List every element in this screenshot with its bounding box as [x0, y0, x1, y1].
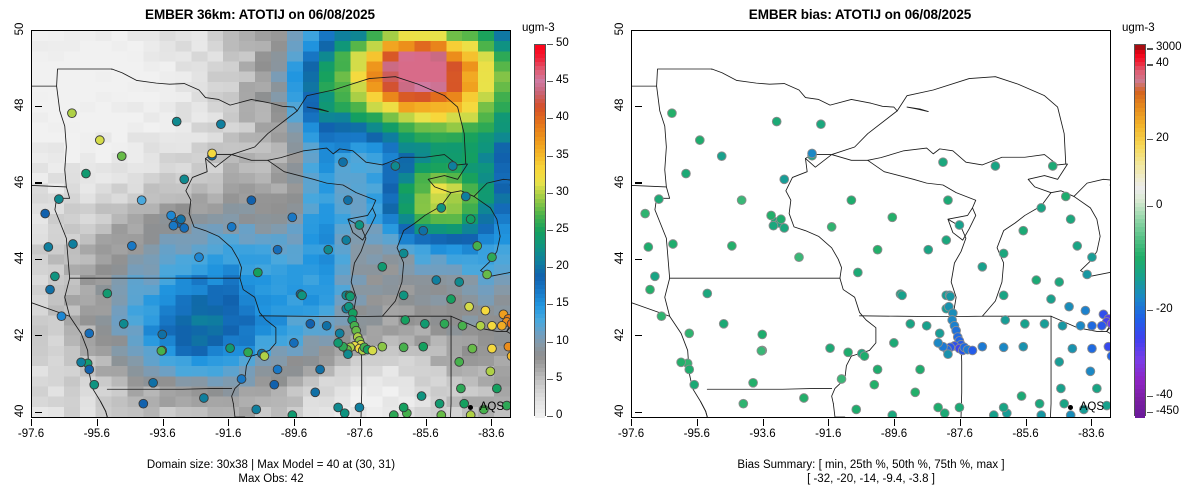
aqs-site-marker[interactable]	[1083, 270, 1092, 279]
aqs-site-marker[interactable]	[298, 291, 307, 300]
aqs-site-marker[interactable]	[117, 152, 126, 161]
y-tick-mark	[635, 412, 642, 413]
aqs-site-marker[interactable]	[157, 346, 166, 355]
aqs-site-marker[interactable]	[139, 399, 148, 408]
colorbar-segment	[535, 62, 545, 67]
x-tick-label: -97.6	[5, 428, 57, 440]
aqs-site-marker[interactable]	[844, 348, 853, 357]
aqs-site-marker[interactable]	[77, 358, 86, 367]
aqs-site-marker[interactable]	[465, 302, 474, 311]
aqs-site-marker[interactable]	[1037, 204, 1046, 213]
aqs-site-marker[interactable]	[978, 262, 987, 271]
colorbar-tick-mark	[547, 118, 553, 119]
aqs-site-marker[interactable]	[447, 295, 456, 304]
aqs-site-marker[interactable]	[226, 344, 235, 353]
colorbar-segment	[535, 99, 545, 104]
aqs-site-marker[interactable]	[1017, 392, 1026, 401]
aqs-site-marker[interactable]	[719, 319, 728, 328]
colorbar-segment	[1135, 268, 1145, 273]
aqs-site-marker[interactable]	[703, 289, 712, 298]
colorbar-segment	[1135, 297, 1145, 302]
aqs-site-marker[interactable]	[942, 236, 951, 245]
colorbar-tick-mark	[547, 230, 553, 231]
aqs-site-marker[interactable]	[55, 195, 64, 204]
aqs-site-marker[interactable]	[1057, 384, 1066, 393]
aqs-site-marker[interactable]	[322, 321, 331, 330]
aqs-site-marker[interactable]	[1107, 352, 1110, 361]
colorbar-segment	[535, 227, 545, 232]
aqs-site-marker[interactable]	[1092, 384, 1101, 393]
y-tick-40: 40	[613, 406, 627, 418]
aqs-site-marker[interactable]	[399, 249, 408, 258]
y-tick-48: 48	[13, 100, 27, 112]
aqs-site-marker[interactable]	[989, 411, 998, 417]
aqs-site-marker[interactable]	[1061, 192, 1070, 201]
colorbar-tick-mark	[547, 44, 553, 45]
aqs-site-marker[interactable]	[1032, 276, 1041, 285]
colorbar-segment	[535, 140, 545, 145]
aqs-site-marker[interactable]	[119, 319, 128, 328]
aqs-site-marker[interactable]	[777, 215, 786, 224]
aqs-site-marker[interactable]	[44, 243, 53, 252]
aqs-site-marker[interactable]	[169, 221, 178, 230]
aqs-site-marker[interactable]	[999, 403, 1008, 412]
aqs-site-marker[interactable]	[799, 394, 808, 403]
aqs-site-marker[interactable]	[172, 117, 181, 126]
colorbar-segment	[1135, 227, 1145, 232]
aqs-site-marker[interactable]	[890, 339, 899, 348]
aqs-site-marker[interactable]	[955, 221, 964, 230]
aqs-site-marker[interactable]	[1035, 399, 1044, 408]
aqs-site-marker[interactable]	[739, 399, 748, 408]
aqs-site-marker[interactable]	[69, 240, 78, 249]
aqs-site-marker[interactable]	[149, 378, 158, 387]
aqs-site-marker[interactable]	[690, 380, 699, 389]
aqs-site-marker[interactable]	[1020, 319, 1029, 328]
x-tick-label: -95.6	[671, 428, 723, 440]
colorbar-segment	[535, 107, 545, 112]
colorbar-segment	[1135, 82, 1145, 87]
aqs-site-marker[interactable]	[717, 152, 726, 161]
aqs-site-marker[interactable]	[208, 149, 217, 158]
aqs-site-marker[interactable]	[344, 196, 353, 205]
colorbar-segment	[535, 82, 545, 87]
aqs-site-marker[interactable]	[655, 195, 664, 204]
aqs-site-marker[interactable]	[288, 411, 297, 417]
aqs-site-marker[interactable]	[492, 384, 501, 393]
aqs-site-marker[interactable]	[334, 339, 343, 348]
panel-model: EMBER 36km: ATOTIJ on 06/08/2025 AQS 404…	[0, 0, 600, 502]
aqs-site-marker[interactable]	[847, 196, 856, 205]
aqs-site-marker[interactable]	[772, 117, 781, 126]
aqs-site-marker[interactable]	[306, 319, 315, 328]
aqs-site-marker[interactable]	[873, 245, 882, 254]
colorbar-segment	[1135, 260, 1145, 265]
colorbar-tick-mark	[547, 193, 553, 194]
x-tick-mark	[697, 419, 698, 426]
aqs-site-marker[interactable]	[999, 249, 1008, 258]
aqs-site-marker[interactable]	[253, 268, 262, 277]
aqs-site-marker[interactable]	[999, 291, 1008, 300]
aqs-site-marker[interactable]	[668, 109, 677, 118]
aqs-site-marker[interactable]	[1076, 321, 1085, 330]
aqs-site-marker[interactable]	[435, 399, 444, 408]
aqs-site-marker[interactable]	[853, 268, 862, 277]
aqs-site-marker[interactable]	[137, 196, 146, 205]
aqs-site-marker[interactable]	[399, 343, 408, 352]
aqs-site-marker[interactable]	[217, 120, 226, 129]
aqs-site-marker[interactable]	[944, 350, 953, 359]
aqs-site-marker[interactable]	[103, 289, 112, 298]
x-tick-mark	[1026, 419, 1027, 426]
aqs-site-marker[interactable]	[41, 209, 50, 218]
aqs-site-marker[interactable]	[468, 344, 477, 353]
colorbar-tick-label: -20	[1156, 303, 1173, 315]
aqs-site-marker[interactable]	[644, 243, 653, 252]
aqs-site-marker[interactable]	[898, 291, 907, 300]
aqs-site-marker[interactable]	[1088, 344, 1097, 353]
aqs-site-marker[interactable]	[195, 253, 204, 262]
colorbar-tick-mark	[1147, 139, 1153, 140]
aqs-site-marker[interactable]	[1088, 321, 1097, 330]
aqs-site-marker[interactable]	[260, 352, 269, 361]
aqs-site-marker[interactable]	[978, 342, 987, 351]
aqs-site-marker[interactable]	[270, 380, 279, 389]
aqs-site-marker[interactable]	[199, 394, 208, 403]
colorbar-segment	[1135, 351, 1145, 356]
colorbar-segment	[535, 190, 545, 195]
aqs-site-marker[interactable]	[339, 158, 348, 167]
aqs-site-marker[interactable]	[167, 211, 176, 220]
colorbar-segment	[1135, 318, 1145, 323]
colorbar-segment	[1135, 132, 1145, 137]
aqs-site-marker[interactable]	[324, 245, 333, 254]
aqs-site-marker[interactable]	[378, 342, 387, 351]
aqs-site-marker[interactable]	[737, 196, 746, 205]
aqs-site-marker[interactable]	[968, 346, 977, 355]
aqs-site-marker[interactable]	[870, 380, 879, 389]
aqs-site-marker[interactable]	[944, 196, 953, 205]
aqs-site-marker[interactable]	[1055, 278, 1064, 287]
aqs-site-marker[interactable]	[1065, 302, 1074, 311]
aqs-site-marker[interactable]	[158, 330, 167, 339]
aqs-site-marker[interactable]	[247, 196, 256, 205]
aqs-site-marker[interactable]	[51, 272, 60, 281]
colorbar-segment	[1135, 330, 1145, 335]
aqs-site-marker[interactable]	[685, 365, 694, 374]
aqs-site-marker[interactable]	[486, 367, 495, 376]
colorbar-tick-mark	[547, 267, 553, 268]
aqs-site-marker[interactable]	[290, 339, 299, 348]
colorbar-segment	[535, 90, 545, 95]
aqs-site-marker[interactable]	[389, 411, 398, 417]
y-tick-mark	[35, 259, 42, 260]
aqs-site-marker[interactable]	[180, 224, 189, 233]
colorbar-segment	[1135, 347, 1145, 352]
aqs-site-marker[interactable]	[455, 278, 464, 287]
aqs-site-marker[interactable]	[826, 344, 835, 353]
colorbar-segment	[535, 57, 545, 62]
aqs-site-marker[interactable]	[769, 221, 778, 230]
aqs-site-marker[interactable]	[1058, 321, 1067, 330]
colorbar-tick-mark	[547, 416, 553, 417]
aqs-site-marker[interactable]	[432, 276, 441, 285]
aqs-site-marker[interactable]	[757, 346, 766, 355]
aqs-marker-icon	[468, 405, 473, 410]
aqs-site-marker[interactable]	[924, 245, 933, 254]
aqs-site-marker[interactable]	[483, 270, 492, 279]
colorbar-segment	[535, 70, 545, 75]
colorbar-segment	[1135, 359, 1145, 364]
aqs-site-marker[interactable]	[180, 175, 189, 184]
aqs-site-marker[interactable]	[399, 291, 408, 300]
aqs-site-marker[interactable]	[227, 223, 236, 232]
aqs-site-marker[interactable]	[237, 375, 246, 384]
colorbar-segment	[535, 314, 545, 319]
aqs-site-marker[interactable]	[440, 319, 449, 328]
aqs-site-marker[interactable]	[1086, 367, 1095, 376]
aqs-site-marker[interactable]	[458, 321, 467, 330]
x-tick-label: -89.6	[268, 428, 320, 440]
aqs-site-marker[interactable]	[940, 409, 949, 417]
y-tick-50: 50	[13, 24, 27, 36]
colorbar-segment	[1135, 161, 1145, 166]
colorbar-tick-mark	[1147, 48, 1153, 49]
colorbar-segment	[535, 363, 545, 368]
x-tick-mark	[894, 419, 895, 426]
aqs-site-marker[interactable]	[448, 162, 457, 171]
colorbar-tick-label: -40	[1156, 389, 1173, 401]
aqs-site-marker[interactable]	[695, 136, 704, 145]
aqs-site-marker[interactable]	[244, 348, 253, 357]
colorbar-tick-label: 20	[556, 260, 569, 272]
aqs-site-marker[interactable]	[685, 329, 694, 338]
aqs-site-marker[interactable]	[437, 411, 446, 417]
aqs-site-marker[interactable]	[827, 223, 836, 232]
aqs-site-marker[interactable]	[95, 136, 104, 145]
aqs-site-marker[interactable]	[780, 175, 789, 184]
colorbar-segment	[535, 119, 545, 124]
aqs-site-marker[interactable]	[311, 388, 320, 397]
aqs-site-marker[interactable]	[437, 204, 446, 213]
colorbar-segment	[535, 194, 545, 199]
colorbar-segment	[1135, 248, 1145, 253]
aqs-site-marker[interactable]	[461, 192, 470, 201]
aqs-site-marker[interactable]	[946, 292, 955, 301]
aqs-site-marker[interactable]	[476, 321, 485, 330]
aqs-site-marker[interactable]	[669, 240, 678, 249]
colorbar-segment	[535, 223, 545, 228]
aqs-site-marker[interactable]	[1047, 295, 1056, 304]
aqs-site-marker[interactable]	[646, 285, 655, 294]
x-tick-label: -83.6	[1065, 428, 1117, 440]
aqs-site-marker[interactable]	[1040, 319, 1049, 328]
aqs-site-marker[interactable]	[682, 169, 691, 178]
colorbar-segment	[535, 396, 545, 401]
colorbar-segment	[535, 148, 545, 153]
aqs-site-marker[interactable]	[1001, 316, 1010, 325]
aqs-site-marker[interactable]	[273, 245, 282, 254]
aqs-site-marker[interactable]	[888, 411, 897, 417]
aqs-site-marker[interactable]	[758, 330, 767, 339]
colorbar-segment	[535, 301, 545, 306]
colorbar-segment	[535, 326, 545, 331]
aqs-site-marker[interactable]	[939, 158, 948, 167]
colorbar-segment	[535, 252, 545, 257]
x-tick-label: -97.6	[605, 428, 657, 440]
y-tick-48: 48	[613, 100, 627, 112]
aqs-site-marker[interactable]	[252, 405, 261, 414]
colorbar-segment	[1135, 194, 1145, 199]
colorbar-segment	[535, 388, 545, 393]
aqs-site-marker[interactable]	[934, 339, 943, 348]
colorbar-segment	[1135, 115, 1145, 120]
aqs-observation-markers-left[interactable]	[32, 31, 510, 417]
aqs-site-marker[interactable]	[481, 306, 490, 315]
aqs-site-marker[interactable]	[457, 384, 466, 393]
aqs-site-marker[interactable]	[488, 344, 497, 353]
aqs-site-marker[interactable]	[1081, 306, 1090, 315]
aqs-site-marker[interactable]	[641, 209, 650, 218]
colorbar-segment	[1135, 396, 1145, 401]
aqs-site-marker[interactable]	[1048, 162, 1057, 171]
panel-model-title: EMBER 36km: ATOTIJ on 06/08/2025	[0, 7, 520, 22]
colorbar-segment	[535, 115, 545, 120]
aqs-site-marker[interactable]	[1037, 411, 1046, 417]
aqs-site-marker[interactable]	[852, 405, 861, 414]
aqs-site-marker[interactable]	[46, 285, 55, 294]
aqs-site-marker[interactable]	[344, 350, 353, 359]
aqs-site-marker[interactable]	[417, 392, 426, 401]
aqs-site-marker[interactable]	[1073, 242, 1082, 251]
aqs-site-marker[interactable]	[419, 342, 428, 351]
aqs-site-marker[interactable]	[466, 215, 475, 224]
aqs-site-marker[interactable]	[767, 211, 776, 220]
aqs-site-marker[interactable]	[677, 358, 686, 367]
colorbar-segment	[535, 78, 545, 83]
x-tick-label: -91.6	[802, 428, 854, 440]
aqs-site-marker[interactable]	[860, 352, 869, 361]
colorbar-segment	[1135, 53, 1145, 58]
aqs-site-marker[interactable]	[749, 378, 758, 387]
aqs-site-marker[interactable]	[1055, 358, 1064, 367]
aqs-site-marker[interactable]	[916, 365, 925, 374]
aqs-site-marker[interactable]	[651, 272, 660, 281]
aqs-site-marker[interactable]	[85, 329, 94, 338]
aqs-site-marker[interactable]	[455, 358, 464, 367]
colorbar-segment	[535, 305, 545, 310]
aqs-site-marker[interactable]	[1019, 226, 1028, 235]
aqs-site-marker[interactable]	[177, 215, 186, 224]
aqs-site-marker[interactable]	[340, 409, 349, 417]
aqs-site-marker[interactable]	[342, 236, 351, 245]
aqs-site-marker[interactable]	[401, 316, 410, 325]
aqs-site-marker[interactable]	[911, 388, 920, 397]
aqs-site-marker[interactable]	[82, 169, 91, 178]
aqs-site-marker[interactable]	[837, 375, 846, 384]
aqs-site-marker[interactable]	[316, 365, 325, 374]
colorbar-segment	[535, 413, 545, 418]
aqs-site-marker[interactable]	[808, 149, 817, 158]
aqs-site-marker[interactable]	[817, 120, 826, 129]
colorbar-segment	[535, 338, 545, 343]
colorbar-segment	[535, 400, 545, 405]
colorbar-segment	[535, 310, 545, 315]
aqs-bias-markers-right[interactable]	[632, 31, 1110, 417]
colorbar-segment	[535, 285, 545, 290]
colorbar-segment	[1135, 144, 1145, 149]
model-caption-line2: Max Obs: 42	[0, 472, 542, 486]
aqs-site-marker[interactable]	[1066, 215, 1075, 224]
aqs-site-marker[interactable]	[1088, 253, 1097, 262]
aqs-site-marker[interactable]	[273, 365, 282, 374]
aqs-site-marker[interactable]	[391, 162, 400, 171]
aqs-site-marker[interactable]	[473, 242, 482, 251]
aqs-site-marker[interactable]	[504, 342, 510, 351]
aqs-site-marker[interactable]	[873, 365, 882, 374]
aqs-site-marker[interactable]	[507, 352, 510, 361]
aqs-legend-label: AQS	[480, 401, 504, 413]
aqs-site-marker[interactable]	[955, 403, 964, 412]
aqs-site-marker[interactable]	[728, 242, 737, 251]
aqs-site-marker[interactable]	[368, 346, 377, 355]
aqs-site-marker[interactable]	[128, 242, 137, 251]
colorbar-segment	[535, 161, 545, 166]
aqs-site-marker[interactable]	[795, 253, 804, 262]
aqs-site-marker[interactable]	[935, 329, 944, 338]
aqs-site-marker[interactable]	[999, 343, 1008, 352]
x-tick-mark	[426, 419, 427, 426]
aqs-site-marker[interactable]	[1019, 342, 1028, 351]
aqs-site-marker[interactable]	[1097, 321, 1106, 330]
aqs-site-marker[interactable]	[780, 224, 789, 233]
aqs-site-marker[interactable]	[1068, 344, 1077, 353]
aqs-site-marker[interactable]	[57, 312, 66, 321]
colorbar-segment	[535, 128, 545, 133]
aqs-site-marker[interactable]	[346, 292, 355, 301]
aqs-legend-label: AQS	[1080, 401, 1104, 413]
aqs-site-marker[interactable]	[378, 262, 387, 271]
colorbar-tick-label: 30	[556, 186, 569, 198]
aqs-site-marker[interactable]	[288, 213, 297, 222]
aqs-site-marker[interactable]	[657, 312, 666, 321]
colorbar-segment	[1135, 310, 1145, 315]
aqs-site-marker[interactable]	[888, 213, 897, 222]
aqs-site-marker[interactable]	[335, 329, 344, 338]
y-tick-mark	[35, 30, 42, 31]
aqs-site-marker[interactable]	[1104, 342, 1110, 351]
aqs-site-marker[interactable]	[355, 403, 364, 412]
aqs-site-marker[interactable]	[85, 365, 94, 374]
colorbar-segment	[535, 318, 545, 323]
aqs-site-marker[interactable]	[922, 321, 931, 330]
colorbar-segment	[535, 206, 545, 211]
aqs-site-marker[interactable]	[906, 319, 915, 328]
aqs-site-marker[interactable]	[991, 162, 1000, 171]
aqs-site-marker[interactable]	[488, 253, 497, 262]
aqs-site-marker[interactable]	[355, 221, 364, 230]
aqs-site-marker[interactable]	[68, 109, 77, 118]
aqs-site-marker[interactable]	[420, 319, 429, 328]
colorbar-segment	[535, 351, 545, 356]
colorbar-segment	[535, 264, 545, 269]
aqs-site-marker[interactable]	[497, 321, 506, 330]
aqs-site-marker[interactable]	[419, 226, 428, 235]
aqs-site-marker[interactable]	[90, 380, 99, 389]
colorbar-segment	[1135, 326, 1145, 331]
aqs-site-marker[interactable]	[488, 321, 497, 330]
aqs-site-marker[interactable]	[399, 403, 408, 412]
